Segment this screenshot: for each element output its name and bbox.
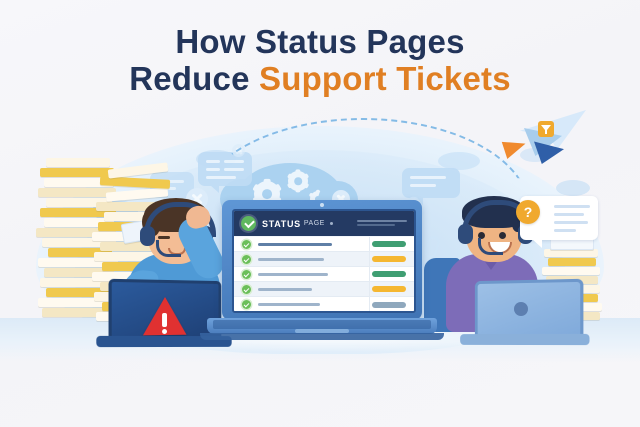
question-magnifier-icon: ? — [516, 200, 540, 224]
laptop-foot — [200, 333, 444, 340]
title-line-1: How Status Pages — [0, 24, 640, 61]
title-line-2-highlight: Support Tickets — [259, 60, 511, 97]
service-name-bar — [258, 273, 328, 276]
status-badge — [372, 302, 406, 308]
status-badge — [372, 271, 406, 277]
service-name-bar — [258, 288, 312, 291]
status-badge — [372, 286, 406, 292]
status-row[interactable] — [234, 237, 414, 252]
cloud-icon — [556, 180, 590, 196]
status-page-screen[interactable]: STATUS PAGE — [232, 209, 416, 313]
table-divider — [369, 237, 370, 312]
page-title: How Status Pages Reduce Support Tickets — [0, 24, 640, 98]
status-row[interactable] — [234, 252, 414, 267]
green-check-circle-icon — [242, 240, 251, 249]
status-row[interactable] — [234, 267, 414, 282]
headset-earcup — [140, 226, 155, 246]
laptop-keyboard[interactable] — [213, 320, 431, 329]
webcam-icon — [320, 203, 324, 207]
title-line-2: Reduce Support Tickets — [0, 61, 640, 98]
title-line-2-prefix: Reduce — [129, 60, 259, 97]
green-check-circle-icon — [242, 285, 251, 294]
laptop-lid: STATUS PAGE — [222, 200, 422, 320]
service-name-bar — [258, 258, 324, 261]
laptop-base — [207, 318, 437, 334]
headset-mic-icon — [478, 238, 503, 255]
green-check-circle-icon — [242, 270, 251, 279]
service-name-bar — [258, 303, 320, 306]
laptop-logo — [514, 302, 528, 316]
center-laptop: STATUS PAGE — [222, 200, 422, 350]
status-badge — [372, 241, 406, 247]
status-row[interactable] — [234, 297, 414, 312]
status-page-title: STATUS — [262, 219, 301, 229]
header-dot — [330, 222, 333, 225]
green-check-circle-icon — [241, 216, 256, 231]
headset-mic-icon — [156, 240, 181, 257]
status-page-header: STATUS PAGE — [234, 211, 414, 236]
status-page-meta — [357, 220, 407, 228]
green-check-circle-icon — [242, 255, 251, 264]
send-icon — [538, 121, 554, 137]
status-badge — [372, 256, 406, 262]
service-name-bar — [258, 243, 332, 246]
warning-exclamation-dot — [162, 329, 167, 334]
status-row[interactable] — [234, 282, 414, 297]
right-laptop-base — [460, 334, 589, 345]
illustration-canvas: How Status Pages Reduce Support Tickets — [0, 0, 640, 427]
headset-earcup — [458, 224, 473, 244]
green-check-circle-icon — [242, 300, 251, 309]
warning-exclamation-bar — [162, 313, 167, 327]
status-page-subtitle: PAGE — [304, 220, 325, 227]
overwhelmed-agent — [112, 196, 236, 328]
